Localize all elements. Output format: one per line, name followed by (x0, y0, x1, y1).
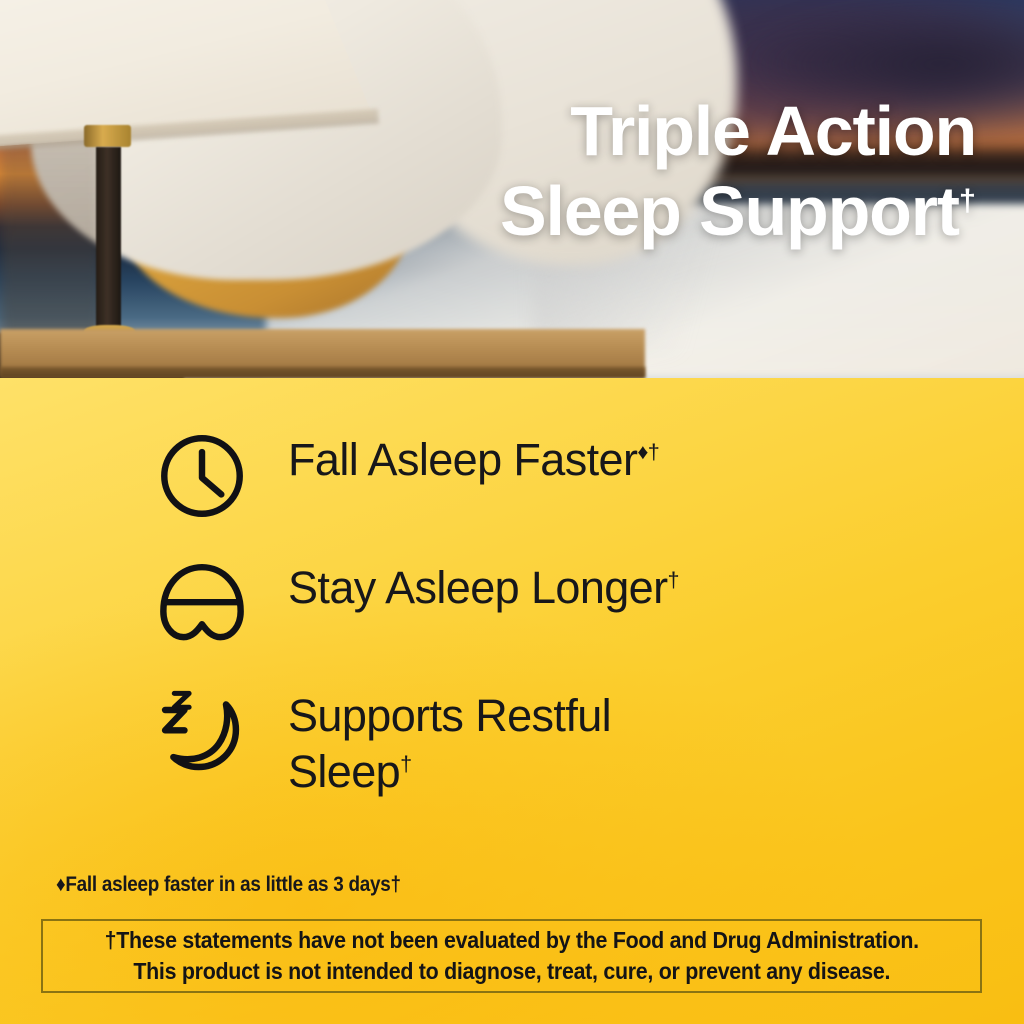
diamond-footnote: ♦Fall asleep faster in as little as 3 da… (56, 873, 401, 897)
list-item: Fall Asleep Faster♦† (150, 426, 964, 530)
lamp-stem (96, 147, 121, 336)
benefits-panel: Fall Asleep Faster♦† Stay Asleep Longer† (0, 378, 1024, 1024)
headline-line-1: Triple Action (336, 92, 976, 172)
benefit-1-text: Fall Asleep Faster (288, 434, 637, 485)
benefit-3-text-line-1: Supports Restful (288, 690, 611, 741)
fda-disclaimer-box: †These statements have not been evaluate… (41, 919, 982, 993)
nightstand-edge (0, 367, 645, 378)
benefit-label: Stay Asleep Longer† (254, 554, 679, 616)
list-item: Supports Restful Sleep† (150, 682, 964, 800)
clock-icon (150, 426, 254, 522)
list-item: Stay Asleep Longer† (150, 554, 964, 658)
headline-line-2-text: Sleep Support (500, 172, 959, 250)
lamp-neck (84, 125, 131, 148)
fda-disclaimer-text: †These statements have not been evaluate… (104, 925, 918, 986)
disclaimer-line-2: This product is not intended to diagnose… (104, 956, 918, 987)
benefit-2-marks: † (667, 567, 678, 592)
page-title: Triple Action Sleep Support† (336, 92, 976, 252)
disclaimer-line-1: †These statements have not been evaluate… (104, 925, 918, 956)
hero-photo: Triple Action Sleep Support† (0, 0, 1024, 378)
benefit-3-text-line-2: Sleep (288, 746, 400, 797)
benefit-label: Supports Restful Sleep† (254, 682, 611, 800)
product-claim-graphic: Triple Action Sleep Support† Fall Asleep… (0, 0, 1024, 1024)
benefit-2-text: Stay Asleep Longer (288, 562, 667, 613)
headline-line-2: Sleep Support† (336, 172, 976, 252)
moon-zzz-icon (150, 682, 254, 782)
sleep-mask-icon (150, 554, 254, 650)
benefit-1-marks: ♦† (637, 439, 659, 464)
benefit-3-marks: † (400, 751, 411, 776)
headline-dagger: † (959, 182, 976, 217)
benefit-label: Fall Asleep Faster♦† (254, 426, 659, 488)
benefits-list: Fall Asleep Faster♦† Stay Asleep Longer† (150, 426, 964, 824)
